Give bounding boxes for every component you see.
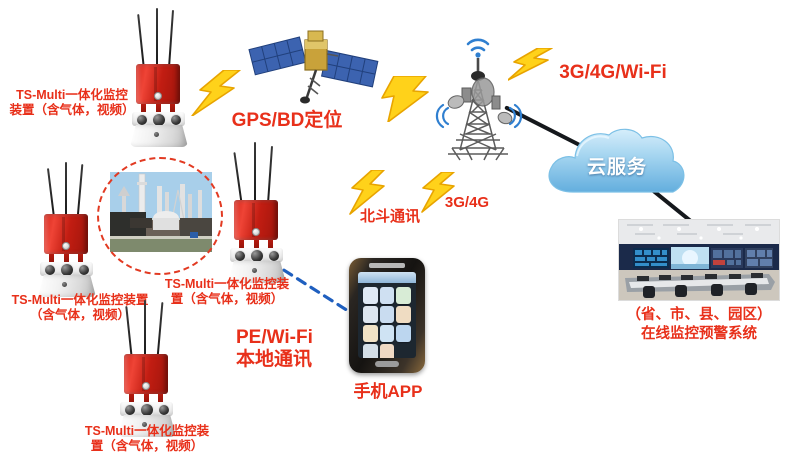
- device-top-left-label: TS-Multi一体化监控 装置（含气体，视频）: [2, 88, 142, 118]
- antenna: [144, 300, 146, 358]
- app-docs-icon[interactable]: [363, 306, 378, 323]
- sensor-lens: [78, 264, 90, 276]
- lightning-bolt-gps-downlink: [380, 76, 432, 122]
- satellite-icon: [246, 6, 382, 104]
- antenna: [77, 164, 84, 218]
- antenna: [65, 162, 67, 218]
- mobile-3g4g-label: 3G/4G: [432, 194, 502, 212]
- camera-lens: [152, 113, 166, 127]
- antenna: [168, 10, 174, 68]
- antenna: [157, 302, 164, 358]
- control-room-photo: [618, 219, 780, 301]
- app-run-icon[interactable]: [380, 344, 395, 358]
- antenna: [47, 168, 55, 218]
- antenna: [267, 146, 273, 204]
- base-port: [154, 132, 159, 137]
- app-settings-icon[interactable]: [396, 287, 411, 304]
- status-led: [154, 92, 162, 100]
- local-comm-label: PE/Wi-Fi 本地通讯: [236, 327, 346, 372]
- antenna: [125, 306, 133, 358]
- camera-lens: [60, 263, 74, 277]
- camera-lens: [140, 403, 154, 417]
- antenna: [137, 14, 145, 68]
- antenna: [254, 142, 256, 204]
- rugged-tablet-icon[interactable]: [349, 258, 425, 373]
- app-home-icon[interactable]: [363, 287, 378, 304]
- mobile-3g4g-wifi-label: 3G/4G/Wi-Fi: [543, 62, 683, 84]
- tablet-screen[interactable]: [358, 272, 416, 358]
- base-port: [252, 268, 257, 273]
- cloud-icon: 云服务: [543, 126, 691, 198]
- device-bottom-left[interactable]: [106, 296, 192, 428]
- device-mid-left[interactable]: [26, 160, 112, 292]
- app-music-icon[interactable]: [380, 306, 395, 323]
- beidou-link-label: 北斗通讯: [345, 208, 435, 226]
- device-top-left[interactable]: [118, 8, 204, 140]
- app-photo-icon[interactable]: [396, 306, 411, 323]
- base-port: [62, 282, 67, 287]
- sensor-lens: [124, 404, 136, 416]
- tablet-app-grid[interactable]: [361, 285, 413, 355]
- device-center[interactable]: [216, 140, 302, 272]
- control-center-label: （省、市、县、园区） 在线监控预警系统: [608, 306, 790, 344]
- status-led: [252, 228, 260, 236]
- sensor-lens: [268, 250, 280, 262]
- antenna: [156, 8, 158, 68]
- app-camera-icon[interactable]: [363, 325, 378, 342]
- camera-lens: [250, 249, 264, 263]
- cell-tower-icon: [426, 22, 534, 162]
- app-mail-icon[interactable]: [380, 325, 395, 342]
- diagram-canvas: 云服务: [0, 0, 797, 464]
- device-base: [130, 125, 188, 147]
- app-compass-icon[interactable]: [363, 344, 378, 358]
- device-bottom-left-label: TS-Multi一体化监控装 置（含气体，视频）: [72, 424, 222, 454]
- sensor-lens: [158, 404, 170, 416]
- mobile-app-label: 手机APP: [338, 382, 438, 402]
- gps-link-label: GPS/BD定位: [222, 110, 352, 132]
- sensor-lens: [44, 264, 56, 276]
- status-led: [62, 242, 70, 250]
- plant-highlight-circle: [97, 157, 223, 275]
- sensor-lens: [170, 114, 182, 126]
- antenna: [233, 152, 243, 204]
- cloud-label: 云服务: [543, 152, 691, 179]
- sensor-lens: [234, 250, 246, 262]
- tablet-bottom-button[interactable]: [375, 361, 399, 367]
- status-led: [142, 382, 150, 390]
- app-tools-icon[interactable]: [380, 287, 395, 304]
- tablet-top-grille: [369, 263, 405, 268]
- app-pause-icon[interactable]: [396, 325, 411, 342]
- tablet-status-bar: [358, 272, 416, 283]
